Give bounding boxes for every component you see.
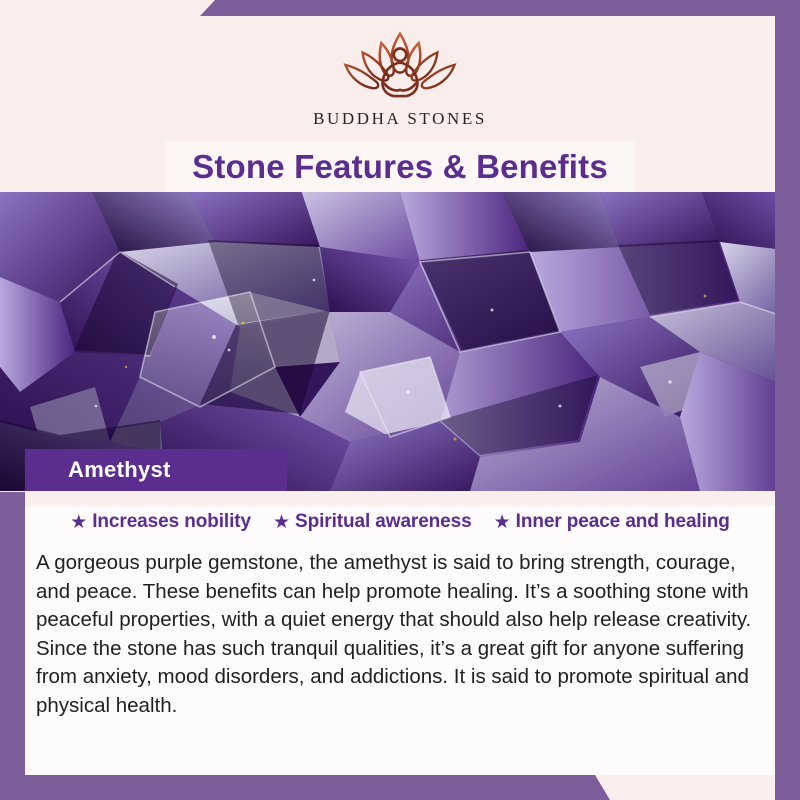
title-plate: Stone Features & Benefits (165, 141, 635, 192)
frame-bottom-accent (0, 775, 800, 800)
star-icon: ★ (273, 513, 290, 532)
benefit-item: ★ Spiritual awareness (273, 511, 472, 533)
frame-right-accent (775, 0, 800, 800)
title-band: Stone Features & Benefits (0, 141, 800, 192)
frame-top-accent (0, 0, 800, 16)
content-top-spacer (25, 491, 775, 506)
benefit-label: Inner peace and healing (516, 511, 730, 533)
benefit-label: Increases nobility (92, 511, 251, 533)
benefit-label: Spiritual awareness (295, 511, 472, 533)
benefit-item: ★ Inner peace and healing (494, 511, 730, 533)
brand-wordmark: BUDDHA STONES (313, 109, 487, 129)
brand-header: BUDDHA STONES (0, 16, 800, 141)
poster-root: BUDDHA STONES Stone Features & Benefits (0, 0, 800, 800)
stone-description: A gorgeous purple gemstone, the amethyst… (36, 549, 764, 720)
page-title: Stone Features & Benefits (192, 148, 608, 186)
lotus-meditation-icon (320, 29, 480, 107)
star-icon: ★ (70, 513, 87, 532)
amethyst-crystal-cluster-image: Amethyst (0, 192, 800, 491)
stone-name-text: Amethyst (68, 457, 171, 483)
benefit-item: ★ Increases nobility (70, 511, 251, 533)
frame-left-accent (0, 492, 25, 800)
content-panel: ★ Increases nobility ★ Spiritual awarene… (25, 491, 775, 775)
stone-name-label: Amethyst (25, 449, 287, 491)
star-icon: ★ (494, 513, 511, 532)
benefits-row: ★ Increases nobility ★ Spiritual awarene… (25, 511, 775, 533)
